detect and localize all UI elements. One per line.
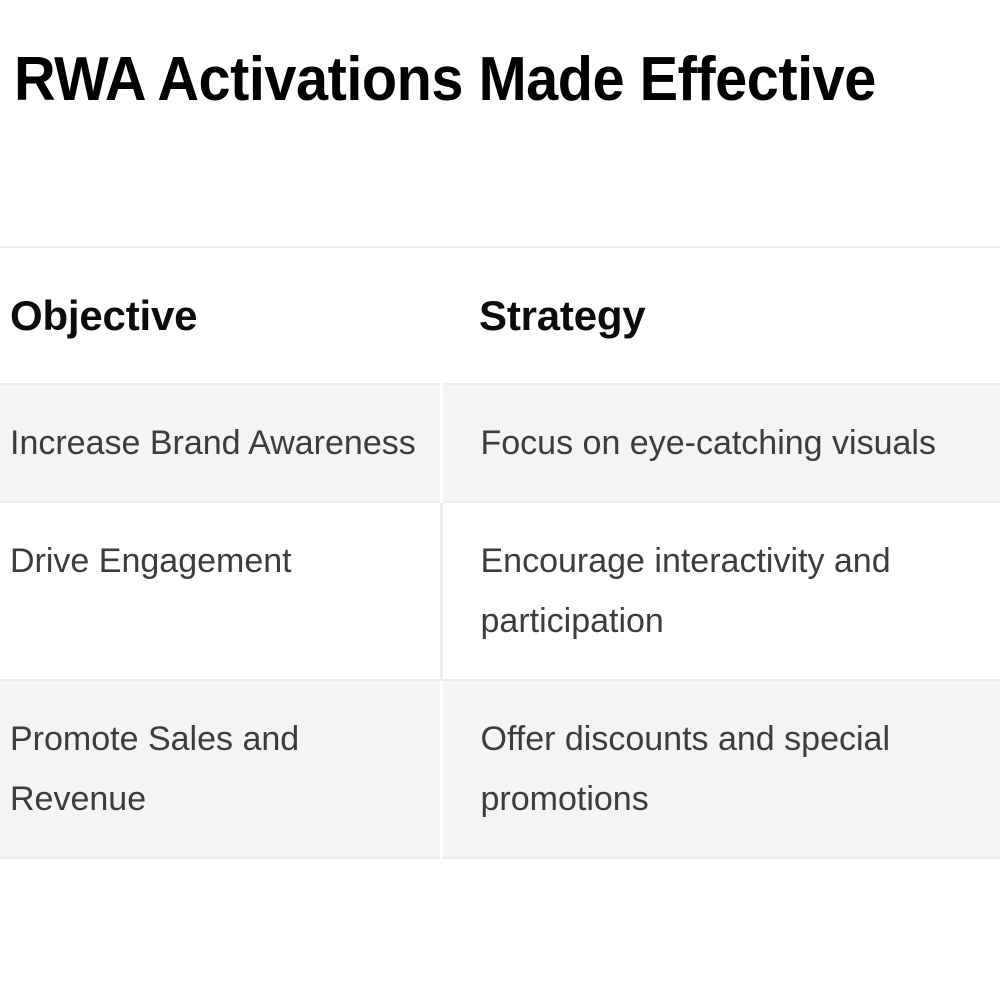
cell-objective-text: Increase Brand Awareness <box>10 413 434 473</box>
cell-strategy-text: Offer discounts and special promotions <box>481 709 995 829</box>
cell-objective-text: Promote Sales and Revenue <box>10 709 434 829</box>
table-row: Promote Sales and Revenue Offer discount… <box>0 680 1000 858</box>
cell-objective: Drive Engagement <box>0 502 441 680</box>
cell-strategy: Offer discounts and special promotions <box>441 680 1000 858</box>
table-header: Objective Strategy <box>0 247 1000 384</box>
cell-objective-text: Drive Engagement <box>10 531 434 591</box>
cell-strategy: Focus on eye-catching visuals <box>441 384 1000 502</box>
objective-strategy-table-container: Objective Strategy Increase Brand Awaren… <box>0 246 1000 859</box>
column-header-strategy: Strategy <box>441 247 1000 384</box>
objective-strategy-table: Objective Strategy Increase Brand Awaren… <box>0 246 1000 859</box>
page-title: RWA Activations Made Effective <box>14 44 925 116</box>
cell-strategy: Encourage interactivity and participatio… <box>441 502 1000 680</box>
cell-strategy-text: Focus on eye-catching visuals <box>481 413 995 473</box>
table-header-row: Objective Strategy <box>0 247 1000 384</box>
table-body: Increase Brand Awareness Focus on eye-ca… <box>0 384 1000 858</box>
cell-objective: Increase Brand Awareness <box>0 384 441 502</box>
table-row: Drive Engagement Encourage interactivity… <box>0 502 1000 680</box>
cell-strategy-text: Encourage interactivity and participatio… <box>481 531 995 651</box>
column-header-objective: Objective <box>0 247 441 384</box>
cell-objective: Promote Sales and Revenue <box>0 680 441 858</box>
table-row: Increase Brand Awareness Focus on eye-ca… <box>0 384 1000 502</box>
document-page: RWA Activations Made Effective Objective… <box>0 0 1000 1000</box>
